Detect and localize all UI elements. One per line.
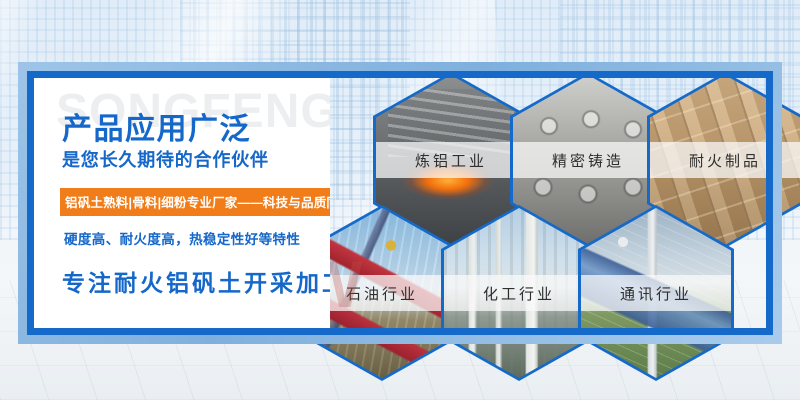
subtitle: 是您长久期待的合作伙伴 (62, 146, 269, 172)
headline-panel: SONGFENG 产品应用广泛 是您长久期待的合作伙伴 铝矾土熟料|骨料|细粉专… (34, 78, 330, 328)
feature-text: 硬度高、耐火度高，热稳定性好等特性 (64, 228, 300, 248)
tagline-badge: 铝矾土熟料|骨料|细粉专业厂家——科技与品质同行 (60, 188, 330, 216)
slogan-text: 专注耐火铝矾土开采加工 (62, 264, 330, 298)
page-title: 产品应用广泛 (62, 104, 251, 148)
promo-banner: 炼铝工业 精密铸造 耐火制品 (0, 0, 800, 400)
